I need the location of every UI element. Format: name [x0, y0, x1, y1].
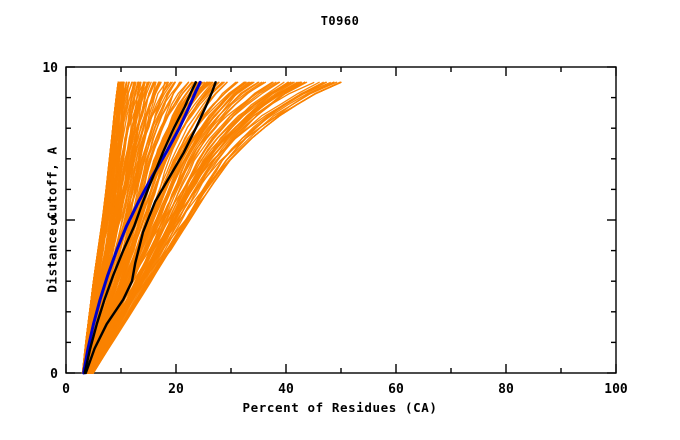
plot-area: 0204060801000510: [0, 0, 680, 440]
x-tick-label: 0: [62, 382, 70, 397]
y-axis-label: Distance Cutoff, A: [45, 90, 60, 350]
x-tick-label: 60: [388, 382, 404, 397]
x-tick-label: 80: [498, 382, 514, 397]
x-tick-label: 100: [604, 382, 628, 397]
x-tick-label: 20: [168, 382, 184, 397]
x-axis-label: Percent of Residues (CA): [0, 400, 680, 415]
x-tick-label: 40: [278, 382, 294, 397]
y-tick-label: 0: [50, 367, 58, 382]
ensemble-curves: [83, 82, 342, 373]
chart-container: T0960 0204060801000510 Percent of Residu…: [0, 0, 680, 440]
y-tick-label: 10: [42, 61, 58, 76]
